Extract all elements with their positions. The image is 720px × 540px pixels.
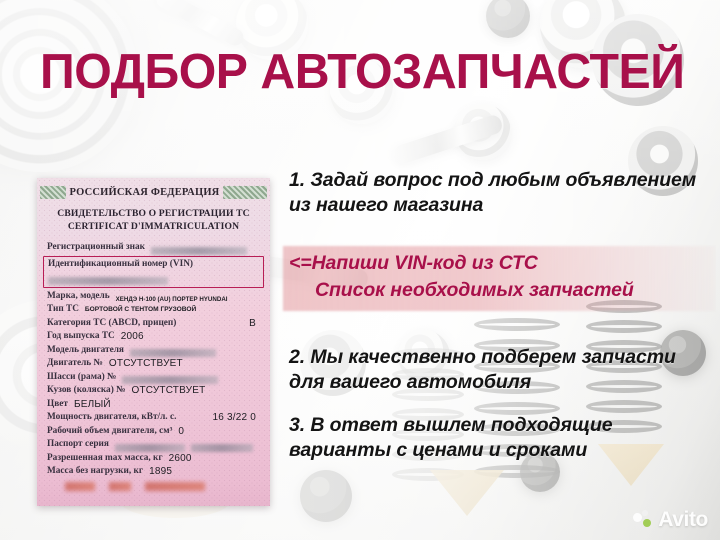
doc-value-vehicle-type: БОРТОВОЙ С ТЕНТОМ ГРУЗОВОЙ bbox=[85, 303, 196, 317]
doc-value-body: ОТСУТСТВУЕТ bbox=[131, 384, 205, 398]
avito-dot-2 bbox=[642, 510, 648, 516]
doc-label-vehicle-type: Тип ТС bbox=[47, 303, 79, 317]
doc-row-displacement: Рабочий объем двигателя, см³ 0 bbox=[47, 425, 260, 439]
doc-label-power: Мощность двигателя, кВт/л. с. bbox=[47, 411, 176, 425]
doc-row-chassis: Шасси (рама) № bbox=[47, 371, 260, 385]
doc-row-engine-no: Двигатель № ОТСУТСТВУЕТ bbox=[47, 357, 260, 371]
doc-row-color: Цвет БЕЛЫЙ bbox=[47, 398, 260, 412]
step-1-text: 1. Задай вопрос под любым объявлением из… bbox=[289, 168, 707, 218]
redacted-date-part-2 bbox=[109, 482, 131, 491]
doc-value-power: 16 3/22 0 bbox=[212, 411, 256, 425]
guilloche-pattern-right bbox=[223, 186, 267, 199]
redacted-value-passport-2 bbox=[191, 444, 253, 452]
avito-dot-1 bbox=[633, 513, 642, 522]
avito-dot-4 bbox=[635, 523, 641, 529]
doc-label-vin: Идентификационный номер (VIN) bbox=[48, 258, 193, 272]
doc-row-make-model: Марка, модель ХЕНДЭ Н-100 (AU) ПОРТЕР HY… bbox=[47, 290, 260, 304]
doc-label-engine-model: Модель двигателя bbox=[47, 344, 124, 358]
doc-label-make-model: Марка, модель bbox=[47, 290, 110, 304]
step-3-text: 3. В ответ вышлем подходящие варианты с … bbox=[289, 413, 707, 463]
doc-value-year: 2006 bbox=[121, 330, 144, 344]
doc-row-vin: Идентификационный номер (VIN) bbox=[48, 258, 259, 272]
doc-value-max-mass: 2600 bbox=[169, 452, 192, 466]
doc-label-max-mass: Разрешенная max масса, кг bbox=[47, 452, 163, 466]
doc-value-make-model: ХЕНДЭ Н-100 (AU) ПОРТЕР HYUNDAI bbox=[116, 296, 228, 303]
redacted-value-engine-model bbox=[130, 349, 216, 357]
redacted-value-reg-plate bbox=[151, 247, 247, 255]
doc-field-list: Регистрационный знак Идентификационный н… bbox=[47, 241, 260, 491]
redacted-value-chassis bbox=[122, 376, 218, 384]
doc-row-max-mass: Разрешенная max масса, кг 2600 bbox=[47, 452, 260, 466]
doc-label-year: Год выпуска ТС bbox=[47, 330, 115, 344]
redacted-date-part-1 bbox=[65, 482, 95, 491]
doc-federation-label: РОССИЙСКАЯ ФЕДЕРАЦИЯ bbox=[70, 187, 220, 198]
vin-highlight-box: Идентификационный номер (VIN) bbox=[43, 256, 264, 288]
doc-row-category: Категория ТС (ABCD, прицеп) В bbox=[47, 317, 260, 331]
doc-row-curb-mass: Масса без нагрузки, кг 1895 bbox=[47, 465, 260, 479]
doc-value-color: БЕЛЫЙ bbox=[74, 398, 111, 412]
doc-label-displacement: Рабочий объем двигателя, см³ bbox=[47, 425, 172, 439]
doc-label-chassis: Шасси (рама) № bbox=[47, 371, 116, 385]
doc-row-passport: Паспорт серия bbox=[47, 438, 260, 452]
doc-row-body: Кузов (коляска) № ОТСУТСТВУЕТ bbox=[47, 384, 260, 398]
redacted-value-passport-1 bbox=[115, 444, 185, 452]
doc-label-passport: Паспорт серия bbox=[47, 438, 109, 452]
doc-value-curb-mass: 1895 bbox=[149, 465, 172, 479]
vin-callout-line-1: <=Напиши VIN-код из СТС bbox=[289, 250, 707, 277]
doc-label-body: Кузов (коляска) № bbox=[47, 384, 125, 398]
avito-wordmark: Avito bbox=[658, 508, 708, 532]
doc-row-reg-plate: Регистрационный знак bbox=[47, 241, 260, 255]
step-2-text: 2. Мы качественно подберем запчасти для … bbox=[289, 345, 707, 395]
instructions-column: 1. Задай вопрос под любым объявлением из… bbox=[289, 160, 707, 463]
redacted-date-part-3 bbox=[145, 482, 205, 491]
doc-federation-row: РОССИЙСКАЯ ФЕДЕРАЦИЯ bbox=[47, 186, 260, 199]
avito-watermark: Avito bbox=[633, 508, 708, 532]
doc-value-category: В bbox=[249, 317, 256, 331]
doc-row-engine-model: Модель двигателя bbox=[47, 344, 260, 358]
avito-logo-icon bbox=[633, 510, 654, 531]
doc-row-vin-value bbox=[48, 271, 259, 285]
slide-canvas: ПОДБОР АВТОЗАПЧАСТЕЙ РОССИЙСКАЯ ФЕДЕРАЦИ… bbox=[0, 0, 720, 540]
guilloche-pattern-left bbox=[40, 186, 66, 199]
doc-row-year: Год выпуска ТС 2006 bbox=[47, 330, 260, 344]
vin-callout-line-2: Список необходимых запчастей bbox=[289, 277, 707, 304]
doc-bottom-redacted-row bbox=[47, 482, 260, 491]
vin-callout: <=Напиши VIN-код из СТС Список необходим… bbox=[289, 248, 707, 307]
doc-value-engine-no: ОТСУТСТВУЕТ bbox=[109, 357, 183, 371]
doc-title-ru: СВИДЕТЕЛЬСТВО О РЕГИСТРАЦИИ ТС bbox=[47, 208, 260, 219]
doc-label-reg-plate: Регистрационный знак bbox=[47, 241, 145, 255]
doc-row-power: Мощность двигателя, кВт/л. с. 16 3/22 0 bbox=[47, 411, 260, 425]
doc-title-fr: CERTIFICAT D'IMMATRICULATION bbox=[47, 221, 260, 232]
doc-label-color: Цвет bbox=[47, 398, 68, 412]
doc-row-vehicle-type: Тип ТС БОРТОВОЙ С ТЕНТОМ ГРУЗОВОЙ bbox=[47, 303, 260, 317]
sts-certificate-image: РОССИЙСКАЯ ФЕДЕРАЦИЯ СВИДЕТЕЛЬСТВО О РЕГ… bbox=[37, 178, 270, 506]
page-title: ПОДБОР АВТОЗАПЧАСТЕЙ bbox=[40, 48, 684, 97]
doc-label-engine-no: Двигатель № bbox=[47, 357, 103, 371]
redacted-value-vin bbox=[48, 277, 168, 285]
doc-value-displacement: 0 bbox=[178, 425, 184, 439]
doc-label-category: Категория ТС (ABCD, прицеп) bbox=[47, 317, 176, 331]
avito-dot-green bbox=[643, 519, 651, 527]
doc-label-curb-mass: Масса без нагрузки, кг bbox=[47, 465, 143, 479]
